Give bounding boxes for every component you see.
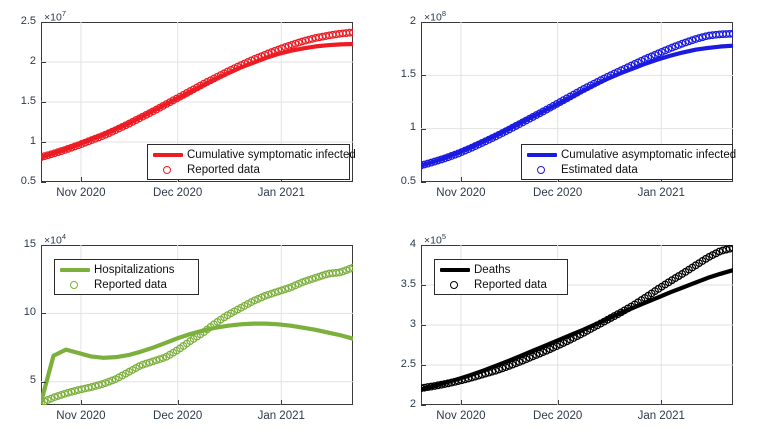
x-tick-label: Jan 2021	[241, 410, 321, 422]
y-tick-label: 2	[0, 55, 36, 67]
y-tick-label: 3	[379, 318, 416, 330]
y-tick-mark	[41, 22, 46, 23]
x-tick-mark	[81, 400, 82, 405]
legend-line-label-2: Hospitalizations	[92, 264, 175, 276]
y-exponent-3: ×105	[424, 232, 446, 247]
legend-marker-swatch-2	[58, 278, 92, 292]
x-tick-label: Jan 2021	[621, 410, 701, 422]
y-tick-mark	[421, 245, 426, 246]
legend-marker-label-3: Reported data	[472, 279, 547, 291]
x-tick-label: Nov 2020	[421, 187, 501, 199]
legend-row-line-1: Cumulative asymptomatic infected	[525, 147, 728, 162]
x-tick-mark	[661, 400, 662, 405]
x-tick-label: Dec 2020	[138, 187, 218, 199]
y-tick-label: 2.5	[379, 358, 416, 370]
legend-0[interactable]: Cumulative symptomatic infected Reported…	[147, 144, 350, 180]
x-tick-label: Nov 2020	[41, 410, 121, 422]
x-tick-mark	[81, 177, 82, 182]
y-tick-mark	[421, 129, 426, 130]
legend-line-swatch-1	[525, 148, 559, 162]
y-tick-mark	[421, 75, 426, 76]
y-tick-mark	[421, 182, 426, 183]
x-tick-label: Nov 2020	[41, 187, 121, 199]
legend-line-label-0: Cumulative symptomatic infected	[185, 149, 356, 161]
legend-row-marker-1: Estimated data	[525, 162, 728, 177]
y-tick-label: 0.5	[379, 175, 416, 187]
y-tick-mark	[421, 365, 426, 366]
legend-line-swatch-0	[151, 148, 185, 162]
y-tick-mark	[41, 62, 46, 63]
y-exponent-0: ×107	[44, 9, 66, 24]
y-tick-label: 3.5	[379, 278, 416, 290]
x-tick-label: Dec 2020	[138, 410, 218, 422]
legend-marker-label-0: Reported data	[185, 164, 260, 176]
legend-row-line-2: Hospitalizations	[58, 262, 194, 277]
y-tick-mark	[41, 102, 46, 103]
y-tick-label: 1	[379, 121, 416, 133]
y-tick-label: 0.5	[0, 175, 36, 187]
x-tick-label: Dec 2020	[518, 410, 598, 422]
legend-marker-label-1: Estimated data	[559, 164, 638, 176]
legend-3[interactable]: Deaths Reported data	[434, 259, 568, 295]
y-tick-mark	[41, 313, 46, 314]
y-exponent-2: ×104	[44, 232, 66, 247]
y-tick-label: 2	[379, 15, 416, 27]
y-tick-label: 2.5	[0, 15, 36, 27]
legend-row-marker-3: Reported data	[438, 277, 563, 292]
y-tick-mark	[41, 382, 46, 383]
legend-marker-label-2: Reported data	[92, 279, 167, 291]
x-tick-label: Jan 2021	[241, 187, 321, 199]
y-tick-mark	[421, 325, 426, 326]
x-tick-mark	[558, 400, 559, 405]
y-tick-mark	[41, 182, 46, 183]
x-tick-mark	[281, 400, 282, 405]
legend-1[interactable]: Cumulative asymptomatic infected Estimat…	[521, 144, 733, 180]
y-tick-mark	[421, 285, 426, 286]
legend-2[interactable]: Hospitalizations Reported data	[54, 259, 199, 295]
legend-marker-swatch-3	[438, 278, 472, 292]
legend-line-label-1: Cumulative asymptomatic infected	[559, 149, 736, 161]
y-tick-mark	[41, 245, 46, 246]
x-tick-mark	[178, 400, 179, 405]
y-tick-label: 2	[379, 398, 416, 410]
y-tick-mark	[421, 405, 426, 406]
legend-row-marker-2: Reported data	[58, 277, 194, 292]
figure-canvas: ×107 0.511.522.5 Nov 2020Dec 2020Jan 202…	[0, 0, 760, 446]
legend-line-swatch-3	[438, 263, 472, 277]
y-tick-mark	[421, 22, 426, 23]
legend-row-line-3: Deaths	[438, 262, 563, 277]
x-tick-label: Nov 2020	[421, 410, 501, 422]
y-tick-label: 1.5	[0, 95, 36, 107]
y-tick-mark	[41, 142, 46, 143]
x-tick-label: Jan 2021	[621, 187, 701, 199]
x-tick-mark	[461, 400, 462, 405]
legend-row-marker-0: Reported data	[151, 162, 345, 177]
legend-marker-swatch-1	[525, 163, 559, 177]
y-tick-label: 10	[0, 306, 36, 318]
y-tick-label: 5	[0, 374, 36, 386]
x-tick-label: Dec 2020	[518, 187, 598, 199]
legend-line-label-3: Deaths	[472, 264, 510, 276]
legend-row-line-0: Cumulative symptomatic infected	[151, 147, 345, 162]
y-tick-label: 1	[0, 135, 36, 147]
legend-line-swatch-2	[58, 263, 92, 277]
legend-marker-swatch-0	[151, 163, 185, 177]
y-tick-label: 4	[379, 238, 416, 250]
y-tick-label: 15	[0, 238, 36, 250]
x-tick-mark	[461, 177, 462, 182]
y-exponent-1: ×108	[424, 9, 446, 24]
y-tick-label: 1.5	[379, 68, 416, 80]
